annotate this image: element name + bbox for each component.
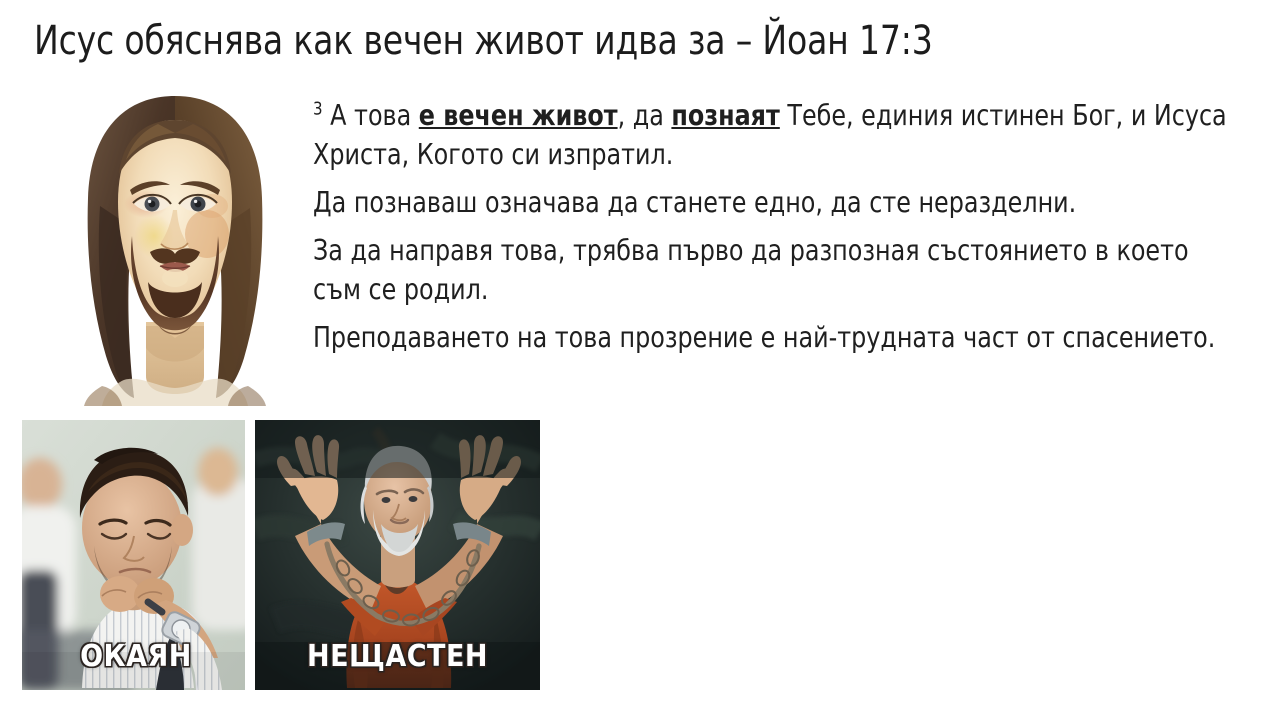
scripture-emphasis-eternal-life: е вечен живот bbox=[419, 99, 618, 132]
body-paragraph-2: За да направя това, трябва първо да разп… bbox=[313, 231, 1243, 309]
body-paragraph-3: Преподаването на това прозрение е най-тр… bbox=[313, 318, 1243, 357]
page-title: Исус обяснява как вечен живот идва за – … bbox=[34, 18, 1138, 64]
body-paragraph-1: Да познаваш означава да станете едно, да… bbox=[313, 183, 1243, 222]
scripture-lead-in: А това bbox=[330, 99, 419, 132]
verse-number: 3 bbox=[313, 99, 323, 120]
scripture-emphasis-know: познаят bbox=[671, 99, 779, 132]
slide-body-text: 3 А това е вечен живот, да познаят Тебе,… bbox=[313, 96, 1243, 357]
slide-canvas: Исус обяснява как вечен живот идва за – … bbox=[0, 0, 1280, 720]
scripture-middle: , да bbox=[618, 99, 672, 132]
scripture-paragraph: 3 А това е вечен живот, да познаят Тебе,… bbox=[313, 96, 1243, 174]
watercolor-portrait-of-jesus bbox=[62, 86, 288, 406]
chained-man-photo: НЕЩАСТЕН bbox=[255, 420, 540, 690]
pensive-man-photo: ОКАЯН bbox=[22, 420, 245, 690]
